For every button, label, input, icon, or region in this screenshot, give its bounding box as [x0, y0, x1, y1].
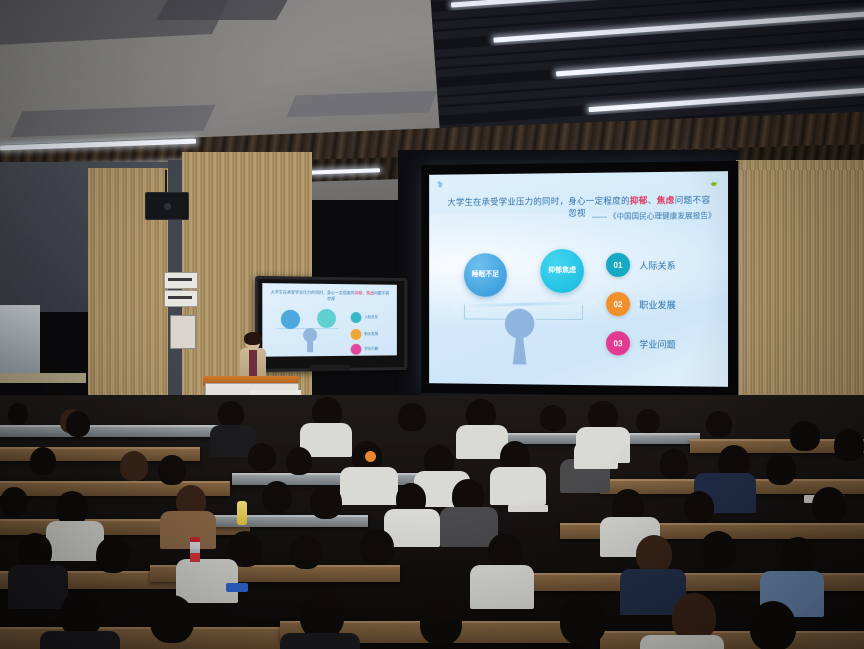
monitor-title-highlight: 焦虑 — [366, 290, 374, 295]
audience-torso — [176, 559, 238, 603]
audience-torso — [640, 635, 724, 649]
audience-torso — [280, 633, 360, 649]
monitor-list-label: 学业问题 — [364, 347, 378, 352]
bubble-anxiety: 抑郁焦虑 — [540, 249, 584, 293]
audience-head — [560, 595, 606, 645]
window — [0, 305, 40, 375]
audience-head — [120, 451, 148, 481]
audience-head — [636, 535, 672, 573]
monitor-title-part: 大学生在承受学业压力的同时，身心一定程度的 — [271, 289, 355, 295]
list-item-number: 03 — [606, 331, 630, 355]
audience-head — [286, 447, 312, 475]
audience-head — [8, 403, 28, 425]
slide-title-part: 、 — [648, 195, 657, 205]
audience-head — [660, 449, 688, 479]
ceiling-speaker-icon — [145, 192, 189, 220]
audience-head — [790, 421, 820, 451]
audience-head — [300, 591, 344, 639]
audience-head — [750, 601, 796, 649]
monitor-slide-title: 大学生在承受学业压力的同时，身心一定程度的抑郁、焦虑问题不容忽视 — [271, 289, 390, 301]
keyhole-person-icon — [503, 309, 536, 365]
audience-head — [248, 443, 276, 471]
window-sill — [0, 373, 86, 383]
audience-head — [540, 405, 566, 431]
list-item: 02 职业发展 — [606, 292, 720, 317]
bottle-label — [190, 553, 200, 562]
slide-title-highlight: 焦虑 — [657, 195, 675, 205]
wall-control-panel[interactable] — [170, 315, 196, 349]
list-item: 03 学业问题 — [606, 331, 720, 356]
audience-head — [150, 595, 194, 643]
smartphone[interactable] — [226, 583, 248, 592]
desk-row — [232, 473, 432, 485]
audience-torso — [160, 511, 216, 549]
slide-surface: ❥ 🍃 大学生在承受学业压力的同时，身心一定程度的抑郁、焦虑问题不容忽视 —— … — [429, 171, 728, 387]
speaker-mount — [165, 170, 167, 194]
audience-torso — [8, 565, 68, 609]
list-item-number: 02 — [606, 292, 630, 316]
wall-notice — [164, 290, 198, 307]
slide-attribution: —— 《中国国民心理健康发展报告》 — [445, 210, 716, 223]
audience-head — [684, 491, 714, 523]
slide-title-highlight: 抑郁 — [630, 195, 648, 205]
presenter-hair — [244, 332, 262, 345]
presenter-inner-top — [249, 350, 257, 376]
monitor-list-label: 人际关系 — [364, 315, 378, 320]
monitor-stand — [310, 365, 350, 371]
monitor-list-dot — [351, 344, 362, 355]
water-bottle — [190, 537, 200, 565]
audience-torso — [470, 565, 534, 609]
audience-head — [834, 429, 864, 461]
list-item-label: 学业问题 — [639, 337, 676, 350]
lecture-hall-photo: ❥ 🍃 大学生在承受学业压力的同时，身心一定程度的抑郁、焦虑问题不容忽视 —— … — [0, 0, 864, 649]
audience-area — [0, 395, 864, 649]
audience-head — [636, 409, 660, 433]
orange-fruit — [365, 451, 376, 462]
desk-row — [0, 425, 240, 437]
monitor-list-dot — [351, 312, 362, 323]
monitor-slide-surface: 大学生在承受学业压力的同时，身心一定程度的抑郁、焦虑问题不容忽视 人际关系 职业… — [262, 283, 397, 357]
audience-torso — [340, 467, 398, 505]
ceiling-panel — [156, 0, 296, 20]
monitor-list-label: 职业发展 — [364, 332, 378, 337]
list-item: 01 人际关系 — [606, 253, 720, 277]
monitor-title-highlight: 抑郁 — [355, 290, 363, 295]
audience-head — [66, 411, 90, 437]
audience-torso — [490, 467, 546, 505]
monitor-bubble-sleep — [281, 310, 300, 329]
balance-arm-left — [464, 305, 508, 320]
audience-head — [0, 487, 28, 517]
audience-head — [488, 533, 522, 569]
audience-head — [218, 401, 244, 427]
confidence-monitor: 大学生在承受学业压力的同时，身心一定程度的抑郁、焦虑问题不容忽视 人际关系 职业… — [255, 276, 407, 372]
monitor-list-dot — [351, 329, 362, 340]
quote-mark-icon: ❥ — [435, 179, 445, 192]
bottle-cap — [190, 537, 200, 542]
list-item-number: 01 — [606, 253, 630, 277]
audience-head — [780, 537, 816, 575]
audience-head — [18, 533, 52, 569]
audience-head — [398, 403, 426, 431]
audience-head — [700, 531, 736, 569]
bubble-sleep: 睡眠不足 — [464, 253, 507, 297]
juice-bottle — [237, 501, 247, 525]
audience-head — [96, 537, 130, 573]
slide-item-list: 01 人际关系 02 职业发展 03 学业问题 — [606, 253, 720, 372]
audience-head — [812, 487, 846, 523]
wall-notice — [164, 272, 198, 289]
audience-head — [290, 535, 322, 569]
audience-head — [262, 481, 292, 513]
list-item-label: 人际关系 — [639, 258, 676, 271]
audience-head — [766, 453, 796, 485]
audience-torso — [574, 441, 618, 469]
audience-head — [56, 491, 88, 525]
audience-head — [360, 529, 394, 565]
paper-sheet — [508, 505, 548, 512]
monitor-keyhole-icon — [307, 338, 313, 352]
projection-screen: ❥ 🍃 大学生在承受学业压力的同时，身心一定程度的抑郁、焦虑问题不容忽视 —— … — [421, 161, 738, 397]
slide-title-part: 大学生在承受学业压力的同时，身心一定程度的 — [447, 195, 629, 207]
leaf-icon: 🍃 — [707, 175, 721, 189]
audience-head — [420, 599, 462, 645]
monitor-bubble-anxiety — [317, 309, 336, 328]
audience-head — [706, 411, 732, 437]
audience-head — [30, 447, 56, 475]
balance-scale-graphic: 睡眠不足 抑郁焦虑 — [443, 247, 600, 367]
audience-torso — [40, 631, 120, 649]
audience-head — [310, 485, 342, 519]
balance-arm-right — [536, 305, 583, 320]
list-item-label: 职业发展 — [639, 298, 676, 311]
audience-head — [158, 455, 186, 485]
audience-head — [672, 593, 716, 641]
